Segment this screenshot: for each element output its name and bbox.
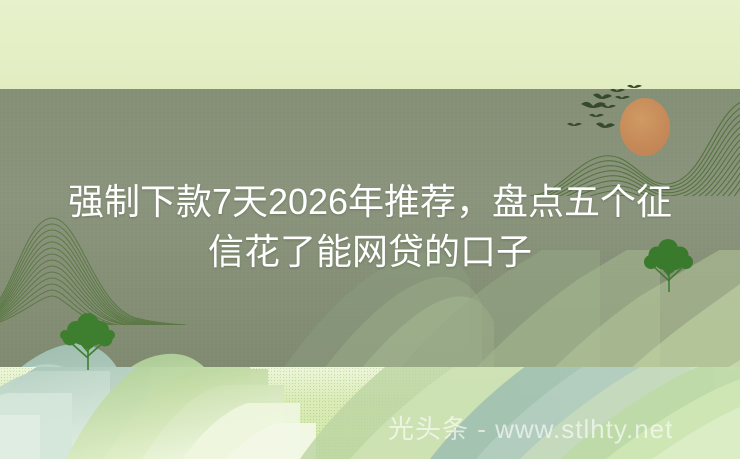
poster-title-line-1: 强制下款7天2026年推荐，盘点五个征: [0, 177, 740, 227]
poster-title-line-2: 信花了能网贷的口子: [0, 227, 740, 277]
poster-image: 强制下款7天2026年推荐，盘点五个征 信花了能网贷的口子 光头条 - www.…: [0, 0, 740, 459]
bird-flock-icon: [565, 84, 660, 140]
tree-left-icon: [58, 308, 118, 370]
foreground-ridges-lower: [0, 367, 740, 459]
sky-band-top: [0, 0, 740, 89]
watermark-text: 光头条 - www.stlhty.net: [388, 414, 673, 444]
poster-title: 强制下款7天2026年推荐，盘点五个征 信花了能网贷的口子: [0, 177, 740, 277]
